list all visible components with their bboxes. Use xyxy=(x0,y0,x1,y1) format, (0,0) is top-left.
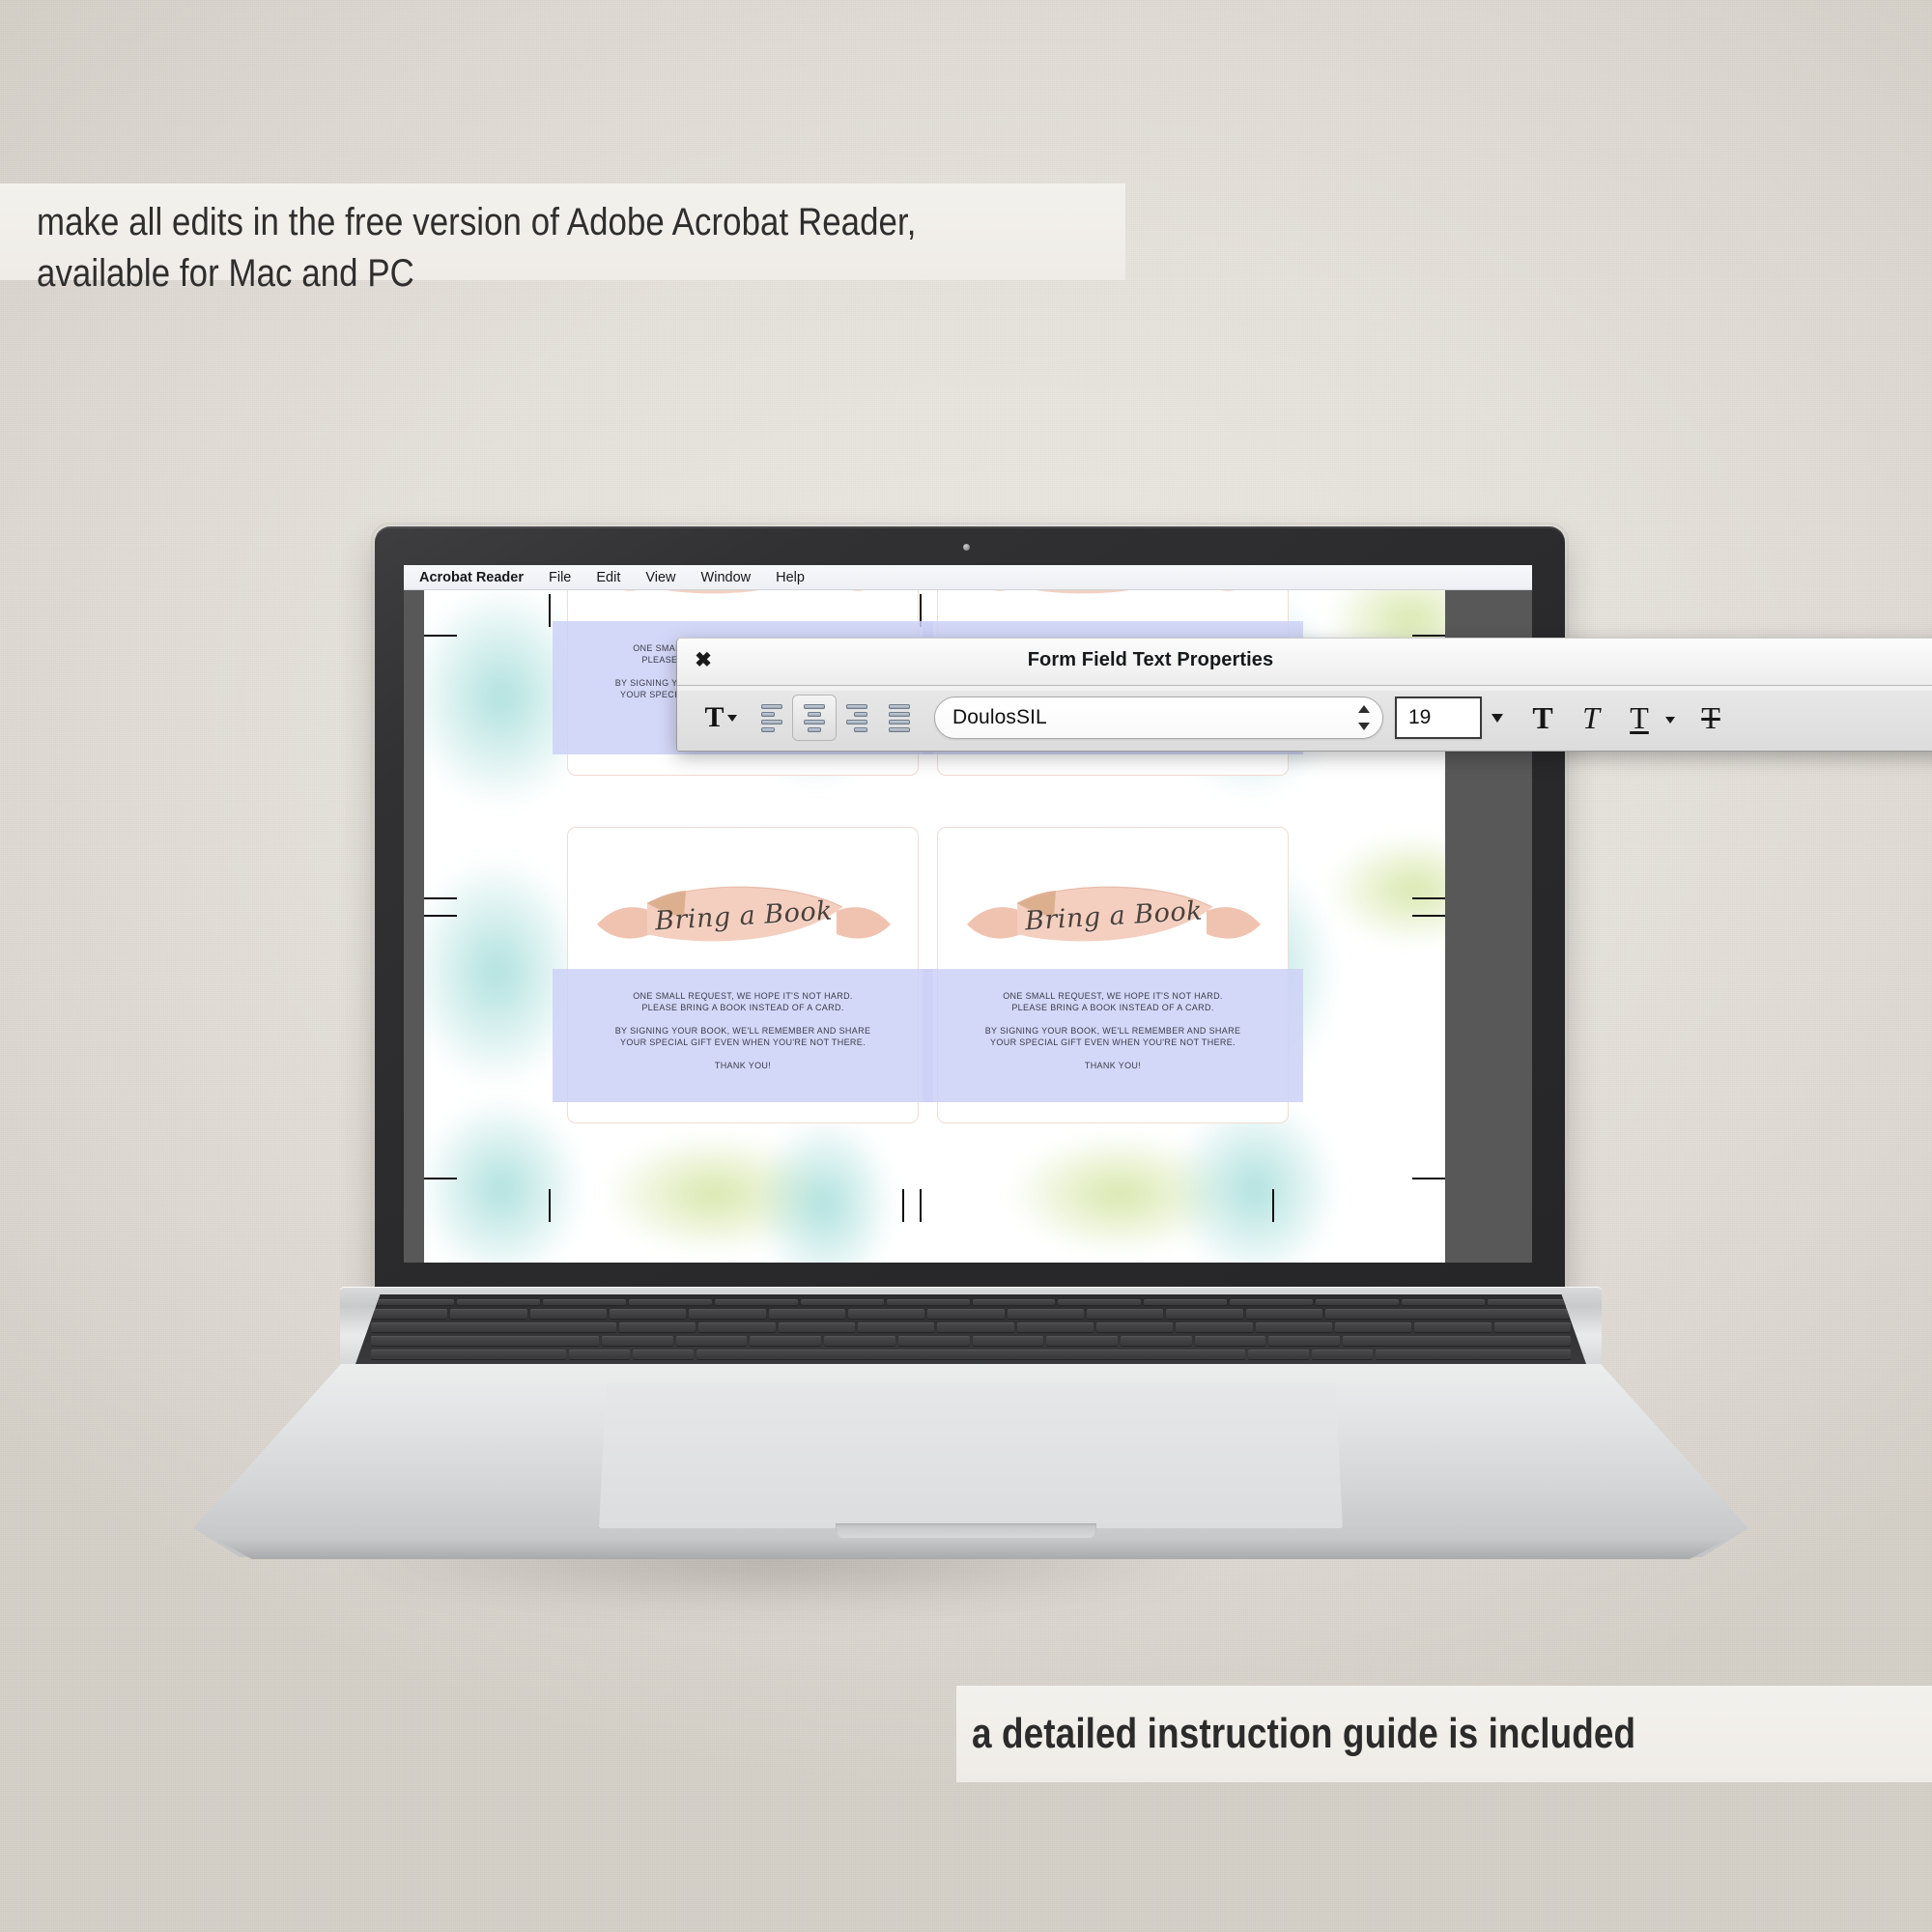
menu-item-acrobat-reader[interactable]: Acrobat Reader xyxy=(415,570,536,585)
underline-button[interactable]: T xyxy=(1615,696,1663,740)
form-field-text-properties-dialog[interactable]: ✖ Form Field Text Properties T DoulosSIL xyxy=(676,638,1932,752)
card-line-2: PLEASE BRING A BOOK INSTEAD OF A CARD. xyxy=(945,1002,1281,1013)
font-family-select[interactable]: DoulosSIL xyxy=(934,696,1383,739)
keyboard-row xyxy=(371,1350,1571,1360)
keyboard-area xyxy=(355,1294,1586,1364)
chevron-down-icon xyxy=(727,715,737,722)
align-left-icon xyxy=(761,704,782,732)
crop-mark xyxy=(1272,1189,1274,1222)
crop-mark xyxy=(549,594,551,627)
lid-open-notch xyxy=(836,1523,1096,1539)
align-center-button[interactable] xyxy=(793,696,836,740)
top-caption-banner: make all edits in the free version of Ad… xyxy=(0,184,1125,280)
card-line-2: PLEASE BRING A BOOK INSTEAD OF A CARD. xyxy=(575,1002,911,1013)
bold-button[interactable]: T xyxy=(1519,696,1567,740)
ribbon-banner: Bring a Book xyxy=(591,874,896,957)
underline-dropdown-icon[interactable] xyxy=(1665,717,1675,724)
laptop-base-edge xyxy=(189,1538,1752,1559)
card-line-4: YOUR SPECIAL GIFT EVEN WHEN YOU'RE NOT T… xyxy=(575,1037,911,1048)
dialog-toolbar: T DoulosSIL 19 T T T xyxy=(677,685,1932,751)
menu-item-help[interactable]: Help xyxy=(763,570,817,585)
align-center-icon xyxy=(804,704,825,732)
watercolor-wash xyxy=(1322,832,1445,948)
card-body-text[interactable]: ONE SMALL REQUEST, WE HOPE IT'S NOT HARD… xyxy=(575,990,911,1071)
font-size-value: 19 xyxy=(1408,706,1431,729)
card-artwork: Bring a Book xyxy=(568,828,918,982)
align-right-button[interactable] xyxy=(836,696,878,740)
card-line-5: THANK YOU! xyxy=(945,1060,1281,1071)
card-line-3: BY SIGNING YOUR BOOK, WE'LL REMEMBER AND… xyxy=(945,1025,1281,1037)
dialog-title: Form Field Text Properties xyxy=(677,649,1932,671)
font-family-value: DoulosSIL xyxy=(952,706,1047,729)
card-body-text[interactable]: ONE SMALL REQUEST, WE HOPE IT'S NOT HARD… xyxy=(945,990,1281,1071)
font-size-dropdown-icon[interactable] xyxy=(1492,714,1503,723)
menu-item-edit[interactable]: Edit xyxy=(583,570,633,585)
ribbon-banner: Bring a Book xyxy=(961,590,1266,610)
menu-item-file[interactable]: File xyxy=(536,570,583,585)
card-bottom-left[interactable]: Bring a Book ONE SMALL REQUEST, WE HOPE … xyxy=(567,827,919,1123)
menu-item-window[interactable]: Window xyxy=(689,570,764,585)
text-properties-button[interactable]: T xyxy=(691,696,751,740)
webcam-icon xyxy=(963,544,970,551)
card-line-4: YOUR SPECIAL GIFT EVEN WHEN YOU'RE NOT T… xyxy=(945,1037,1281,1048)
card-artwork: Bring a Book xyxy=(938,828,1288,982)
crop-mark xyxy=(1412,915,1445,917)
strikethrough-button[interactable]: T xyxy=(1687,696,1735,740)
trackpad[interactable] xyxy=(599,1383,1343,1528)
stepper-icon[interactable] xyxy=(1357,705,1371,730)
top-caption-line-2: available for Mac and PC xyxy=(37,248,983,299)
dialog-titlebar: ✖ Form Field Text Properties xyxy=(677,639,1932,686)
align-justify-button[interactable] xyxy=(878,696,921,740)
text-tool-icon: T xyxy=(704,703,724,732)
keyboard-row xyxy=(371,1322,1571,1333)
bottom-caption-banner: a detailed instruction guide is included xyxy=(956,1686,1932,1782)
crop-mark xyxy=(549,1189,551,1222)
ribbon-banner: Bring a Book xyxy=(961,874,1266,957)
crop-mark xyxy=(1412,1178,1445,1179)
top-caption-line-1: make all edits in the free version of Ad… xyxy=(37,197,983,248)
keyboard-row xyxy=(371,1309,1571,1320)
card-line-1: ONE SMALL REQUEST, WE HOPE IT'S NOT HARD… xyxy=(945,990,1281,1002)
crop-mark xyxy=(424,915,457,917)
align-left-button[interactable] xyxy=(751,696,793,740)
keyboard-row xyxy=(371,1299,1571,1306)
crop-mark xyxy=(1412,635,1445,637)
bottom-caption-text: a detailed instruction guide is included xyxy=(972,1710,1635,1758)
card-bottom-right[interactable]: Bring a Book ONE SMALL REQUEST, WE HOPE … xyxy=(937,827,1289,1123)
crop-mark xyxy=(424,635,457,637)
card-line-3: BY SIGNING YOUR BOOK, WE'LL REMEMBER AND… xyxy=(575,1025,911,1037)
crop-mark xyxy=(920,1189,922,1222)
keyboard-row xyxy=(371,1336,1571,1347)
align-right-icon xyxy=(846,704,867,732)
keyboard-keys xyxy=(355,1294,1586,1364)
menu-item-view[interactable]: View xyxy=(633,570,688,585)
macos-menubar: Acrobat Reader File Edit View Window Hel… xyxy=(404,565,1532,590)
font-size-input[interactable]: 19 xyxy=(1395,696,1482,739)
italic-button[interactable]: T xyxy=(1567,696,1615,740)
card-line-1: ONE SMALL REQUEST, WE HOPE IT'S NOT HARD… xyxy=(575,990,911,1002)
watercolor-wash xyxy=(753,1112,897,1263)
crop-mark xyxy=(902,1189,904,1222)
crop-mark xyxy=(1412,897,1445,899)
align-justify-icon xyxy=(889,704,910,732)
card-line-5: THANK YOU! xyxy=(575,1060,911,1071)
crop-mark xyxy=(424,1178,457,1179)
ribbon-banner: Bring a Book xyxy=(591,590,896,610)
crop-mark xyxy=(424,897,457,899)
